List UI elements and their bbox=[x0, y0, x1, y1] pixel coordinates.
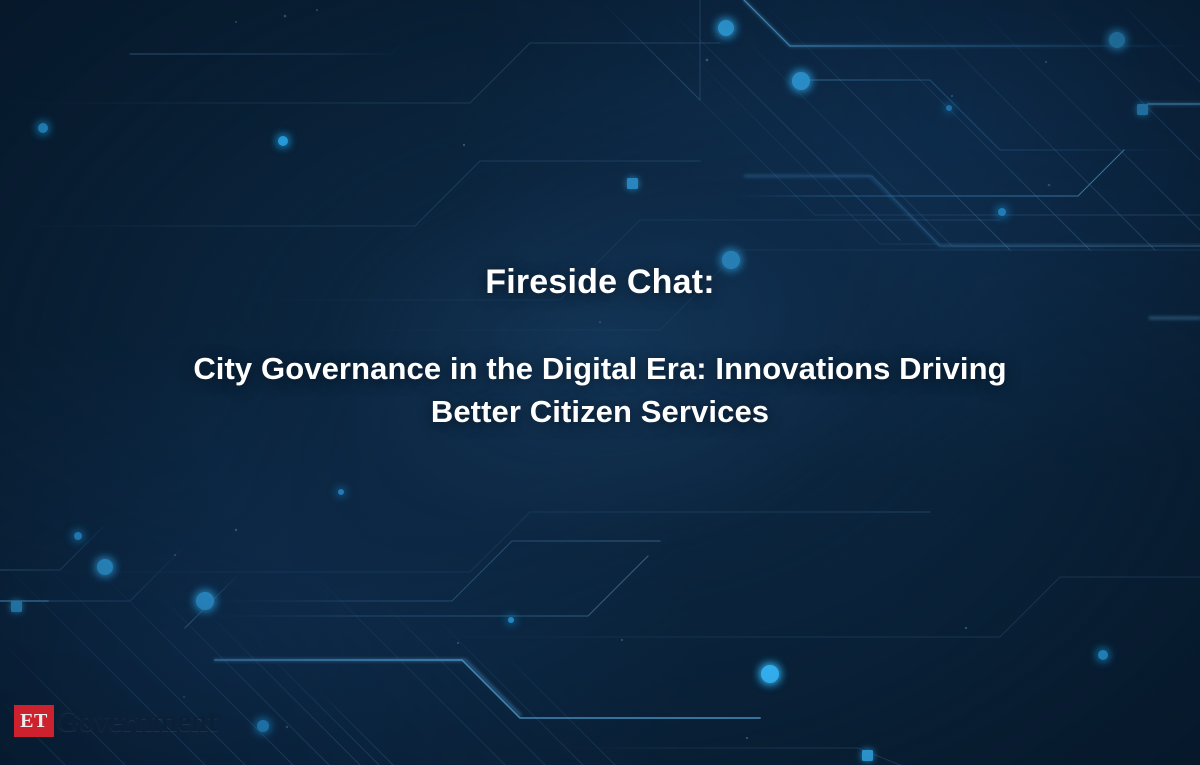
circuit-node-dot bbox=[718, 20, 734, 36]
circuit-node-square bbox=[862, 750, 873, 761]
title-block: Fireside Chat: City Governance in the Di… bbox=[0, 262, 1200, 434]
circuit-node-dot bbox=[998, 208, 1006, 216]
circuit-node-dot bbox=[792, 72, 810, 90]
circuit-node-dot bbox=[196, 592, 214, 610]
circuit-node-dot bbox=[1109, 32, 1125, 48]
circuit-node-dot bbox=[1098, 650, 1108, 660]
et-government-logo: ET Government bbox=[14, 703, 217, 739]
slide-canvas: Fireside Chat: City Governance in the Di… bbox=[0, 0, 1200, 765]
circuit-node-dot bbox=[74, 532, 82, 540]
session-kicker: Fireside Chat: bbox=[0, 262, 1200, 302]
session-headline: City Governance in the Digital Era: Inno… bbox=[0, 348, 1200, 434]
circuit-node-dot bbox=[338, 489, 344, 495]
circuit-node-dot bbox=[508, 617, 514, 623]
circuit-node-dot bbox=[97, 559, 113, 575]
circuit-node-dot bbox=[257, 720, 269, 732]
circuit-node-square bbox=[1137, 104, 1148, 115]
circuit-node-dot bbox=[38, 123, 48, 133]
circuit-node-square bbox=[11, 601, 22, 612]
circuit-node-square bbox=[627, 178, 638, 189]
circuit-node-dot bbox=[278, 136, 288, 146]
et-logo-wordmark: Government bbox=[55, 703, 217, 739]
circuit-node-dot bbox=[946, 105, 952, 111]
headline-line-1: City Governance in the Digital Era: Inno… bbox=[70, 348, 1130, 391]
headline-line-2: Better Citizen Services bbox=[70, 391, 1130, 434]
circuit-node-dot bbox=[761, 665, 779, 683]
et-logo-mark: ET bbox=[14, 705, 54, 737]
